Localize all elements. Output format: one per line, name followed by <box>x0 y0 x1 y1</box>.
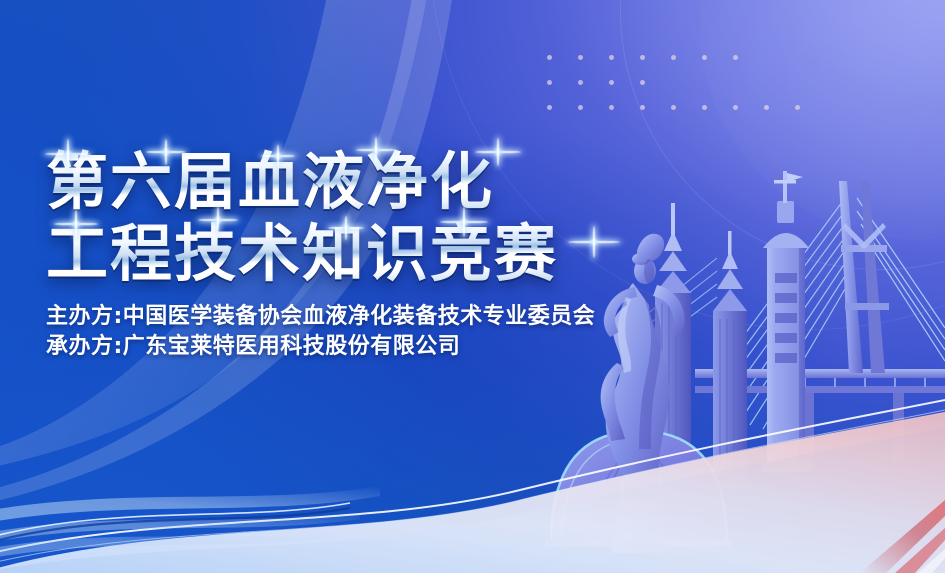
decorative-dot <box>640 105 645 110</box>
decorative-dot <box>702 105 707 110</box>
decorative-dot <box>702 55 707 60</box>
decorative-dot <box>547 55 552 60</box>
title-line-2: 工程技术知识竞赛 <box>46 218 558 290</box>
title-line-1: 第六届血液净化 <box>46 146 558 218</box>
decorative-dot <box>640 55 645 60</box>
decorative-dot <box>640 80 645 85</box>
decorative-dot <box>671 55 676 60</box>
decorative-dot <box>795 105 800 110</box>
subtitle-organizer: 主办方:中国医学装备协会血液净化装备技术专业委员会 <box>46 302 595 332</box>
decorative-dot <box>733 105 738 110</box>
decorative-dot <box>578 80 583 85</box>
city-skyline-illustration <box>545 153 945 573</box>
decorative-dot <box>578 105 583 110</box>
decorative-dot <box>609 105 614 110</box>
decorative-dot <box>733 55 738 60</box>
poster-subtitles: 主办方:中国医学装备协会血液净化装备技术专业委员会 承办方:广东宝莱特医用科技股… <box>46 302 595 362</box>
decorative-dot <box>764 105 769 110</box>
decorative-dot <box>609 80 614 85</box>
subtitle-undertaker: 承办方:广东宝莱特医用科技股份有限公司 <box>46 332 595 362</box>
decorative-dot <box>609 55 614 60</box>
decorative-dot <box>578 55 583 60</box>
decorative-dot <box>671 105 676 110</box>
poster-title: 第六届血液净化 工程技术知识竞赛 <box>46 146 558 290</box>
event-poster: 第六届血液净化 工程技术知识竞赛 主办方:中国医学装备协会血液净化装备技术专业委… <box>0 0 945 573</box>
decorative-dot <box>547 80 552 85</box>
decorative-dot <box>547 105 552 110</box>
